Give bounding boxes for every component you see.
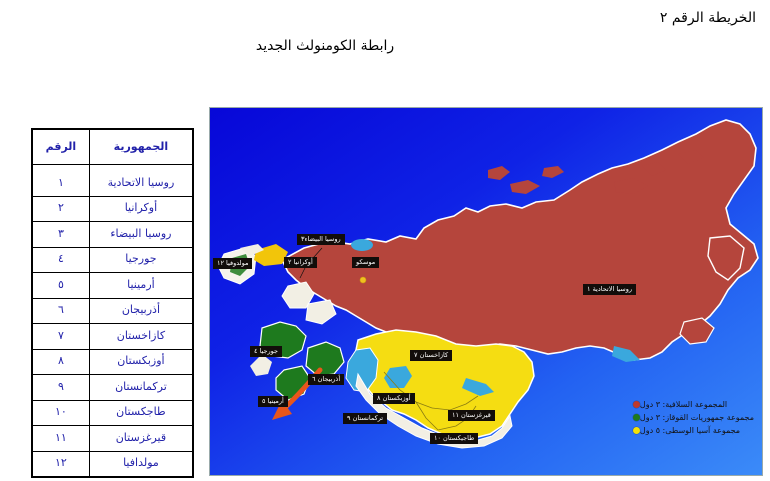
lake-ladoga xyxy=(351,239,373,251)
cell-republic: روسيا البيضاء xyxy=(89,222,193,248)
cell-number: ١٢ xyxy=(32,451,89,477)
cell-number: ١ xyxy=(32,165,89,197)
legend-label-slavic: المجموعة السلافية: ٣ دول xyxy=(640,400,727,409)
table-body: روسيا الاتحادية١ أوكرانيا٢ روسيا البيضاء… xyxy=(32,165,193,478)
cell-number: ٦ xyxy=(32,298,89,324)
label-moldova: مولدوفيا ١٢ xyxy=(213,258,252,269)
table-row: كازاخستان٧ xyxy=(32,324,193,350)
legend-swatch-slavic xyxy=(633,401,640,408)
cell-republic: أذربيجان xyxy=(89,298,193,324)
legend-label-central-asia: مجموعة آسيا الوسطى: ٥ دول xyxy=(640,426,740,435)
table-row: جورجيا٤ xyxy=(32,247,193,273)
cell-republic: كازاخستان xyxy=(89,324,193,350)
moscow-city-dot xyxy=(360,277,366,283)
label-kyrgyzstan: قيرغزستان ١١ xyxy=(448,410,495,421)
cell-republic: أوزبكستان xyxy=(89,349,193,375)
cell-number: ١١ xyxy=(32,426,89,452)
cell-number: ٧ xyxy=(32,324,89,350)
table-row: مولدافيا١٢ xyxy=(32,451,193,477)
column-header-republic: الجمهورية xyxy=(89,129,193,165)
map-number-title: الخريطة الرقم ٢ xyxy=(660,10,756,26)
table-header-row: الجمهورية الرقم xyxy=(32,129,193,165)
cell-republic: طاجكستان xyxy=(89,400,193,426)
cell-republic: تركمانستان xyxy=(89,375,193,401)
cell-number: ٥ xyxy=(32,273,89,299)
cell-number: ٨ xyxy=(32,349,89,375)
legend-label-caucasus: مجموعة جمهوريات القوقاز: ٣ دول xyxy=(640,413,754,422)
label-ukraine: أوكرانيا ٢ xyxy=(284,257,317,268)
table-row: روسيا البيضاء٣ xyxy=(32,222,193,248)
label-tajikistan: طاجيكستان ١٠ xyxy=(430,433,478,444)
table-row: طاجكستان١٠ xyxy=(32,400,193,426)
cell-number: ٤ xyxy=(32,247,89,273)
label-kazakhstan: كازاخستان ٧ xyxy=(410,350,452,361)
cis-map: روسيا الاتحادية ١ أوكرانيا ٢ روسيا البيض… xyxy=(209,107,763,476)
table-row: قيرغزستان١١ xyxy=(32,426,193,452)
table-row: أوزبكستان٨ xyxy=(32,349,193,375)
legend-row-central-asia: مجموعة آسيا الوسطى: ٥ دول xyxy=(626,426,754,435)
label-armenia: أرمينيا ٥ xyxy=(258,396,288,407)
label-turkmenistan: تركمانستان ٩ xyxy=(343,413,387,424)
label-uzbekistan: أوزبكستان ٨ xyxy=(373,393,415,404)
legend-row-slavic: المجموعة السلافية: ٣ دول xyxy=(626,400,754,409)
table-row: أوكرانيا٢ xyxy=(32,196,193,222)
page-title: رابطة الكومنولث الجديد xyxy=(0,38,770,54)
cell-republic: أرمينيا xyxy=(89,273,193,299)
legend-swatch-caucasus xyxy=(633,414,640,421)
cell-number: ٢ xyxy=(32,196,89,222)
table-row: تركمانستان٩ xyxy=(32,375,193,401)
page-title-text: رابطة الكومنولث الجديد xyxy=(256,38,394,54)
cell-republic: أوكرانيا xyxy=(89,196,193,222)
cell-republic: قيرغزستان xyxy=(89,426,193,452)
cell-republic: روسيا الاتحادية xyxy=(89,165,193,197)
cell-number: ٩ xyxy=(32,375,89,401)
table-row: أذربيجان٦ xyxy=(32,298,193,324)
table-row: روسيا الاتحادية١ xyxy=(32,165,193,197)
map-legend: المجموعة السلافية: ٣ دول مجموعة جمهوريات… xyxy=(626,400,754,439)
label-russia: روسيا الاتحادية ١ xyxy=(583,284,636,295)
legend-swatch-central-asia xyxy=(633,427,640,434)
label-georgia: جورجيا ٤ xyxy=(250,346,282,357)
cell-republic: جورجيا xyxy=(89,247,193,273)
cell-number: ٣ xyxy=(32,222,89,248)
cell-republic: مولدافيا xyxy=(89,451,193,477)
column-header-number: الرقم xyxy=(32,129,89,165)
label-azerbaijan: أذربيجان ٦ xyxy=(308,374,344,385)
legend-row-caucasus: مجموعة جمهوريات القوقاز: ٣ دول xyxy=(626,413,754,422)
label-moscow: موسكو xyxy=(352,257,379,268)
label-belarus: روسيا البيضاء٣ xyxy=(297,234,345,245)
table-row: أرمينيا٥ xyxy=(32,273,193,299)
republics-table: الجمهورية الرقم روسيا الاتحادية١ أوكراني… xyxy=(31,128,194,478)
cell-number: ١٠ xyxy=(32,400,89,426)
